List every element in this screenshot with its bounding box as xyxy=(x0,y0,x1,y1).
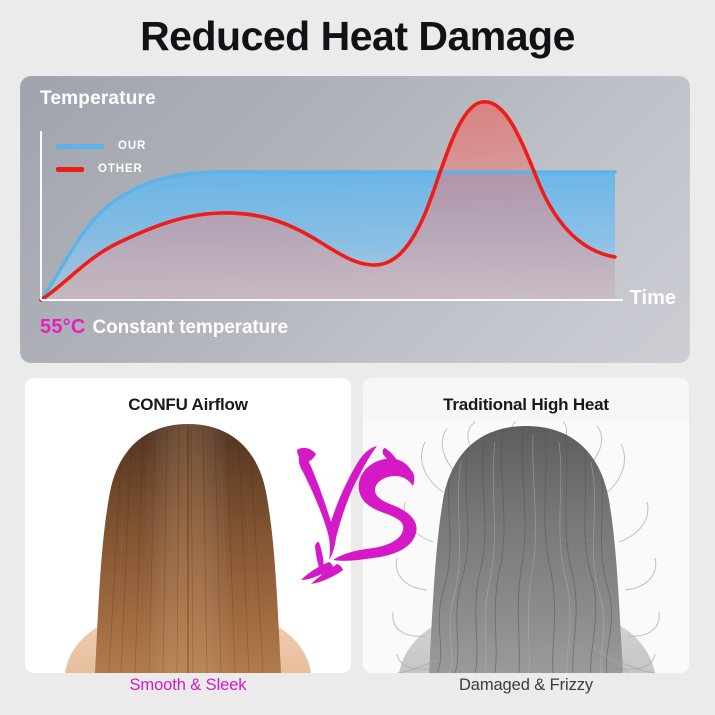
legend-swatch-our-icon xyxy=(56,144,104,149)
comparison-cards: CONFU Airflow xyxy=(25,378,690,673)
caption-smooth-sleek: Smooth & Sleek xyxy=(25,676,351,695)
caption-damaged-frizzy: Damaged & Frizzy xyxy=(363,676,689,695)
chart-legend: OUR OTHER xyxy=(56,140,146,175)
legend-item-our: OUR xyxy=(56,140,146,152)
photo-frizzy-hair xyxy=(363,422,689,673)
chart-x-axis-title: Time xyxy=(630,287,676,310)
legend-label-other: OTHER xyxy=(98,163,143,175)
comparison-card-traditional: Traditional High Heat xyxy=(363,378,689,673)
photo-smooth-hair xyxy=(25,422,351,673)
card-title-traditional: Traditional High Heat xyxy=(363,395,689,415)
chart-footnote: 55°C Constant temperature xyxy=(40,316,288,339)
card-title-confu: CONFU Airflow xyxy=(25,395,351,415)
legend-item-other: OTHER xyxy=(56,163,146,175)
comparison-card-confu: CONFU Airflow xyxy=(25,378,351,673)
product-feature-graphic: Reduced Heat Damage Temperature xyxy=(0,0,715,715)
legend-label-our: OUR xyxy=(118,140,146,152)
temperature-chart-panel: Temperature xyxy=(20,76,690,363)
constant-temperature-value: 55°C xyxy=(40,316,86,339)
constant-temperature-label: Constant temperature xyxy=(93,317,288,339)
page-title: Reduced Heat Damage xyxy=(0,14,715,59)
legend-swatch-other-icon xyxy=(56,167,84,172)
